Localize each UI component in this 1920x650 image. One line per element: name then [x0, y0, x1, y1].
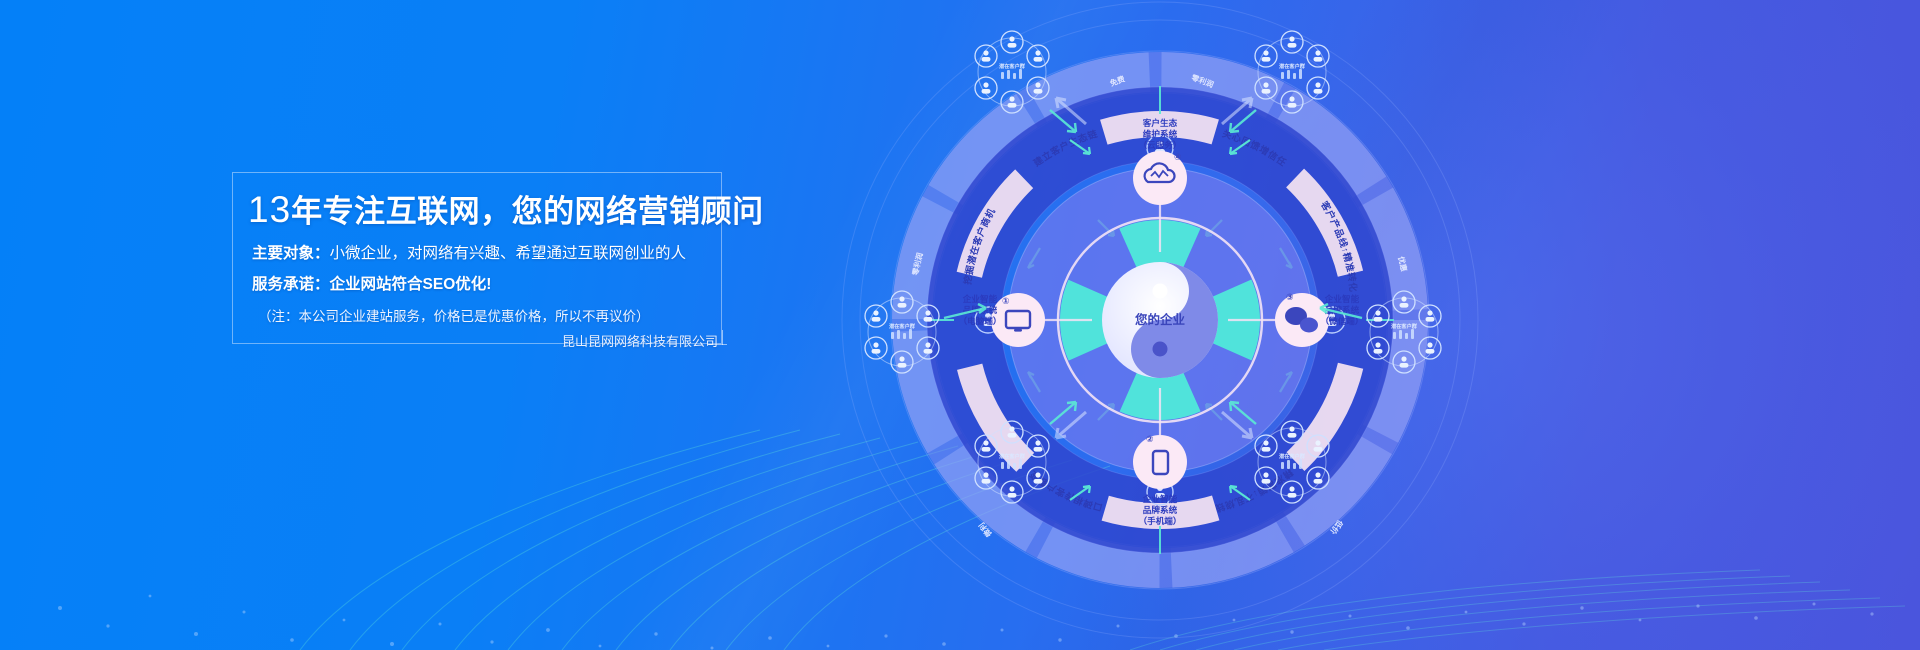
node-desktop-number: ①: [1002, 296, 1010, 306]
ecosystem-diagram: 免费 零利润 零利润 优惠 微利 低价 建立客户生态链 关心回馈增信任 挖掘潜在…: [830, 0, 1490, 650]
years-number: 13: [248, 189, 291, 230]
price-note: （注：本公司企业建站服务，价格已是优惠价格，所以不再议价）: [258, 305, 650, 325]
yin-yang-dot-dark: [1153, 342, 1168, 357]
node-desktop-caption: 企业智能品牌系统（电脑端）: [959, 293, 1002, 326]
page-title: 13年专注互联网，您的网络营销顾问: [248, 186, 768, 231]
promise-value: 企业网站符合SEO优化!: [330, 276, 492, 293]
node-cloud-caption: 客户生态维护系统（云服务）: [1139, 117, 1182, 150]
node-wechat-number: ③: [1286, 292, 1294, 302]
promise-label: 服务承诺：: [252, 276, 330, 293]
core-group: 您的企业: [1102, 262, 1218, 378]
core-label: 您的企业: [1135, 312, 1186, 327]
node-wechat-caption: 企业智能品牌系统（微信端）: [1321, 293, 1364, 326]
chat-icon-secondary: [1300, 318, 1318, 333]
company-name: 昆山昆网网络科技有限公司: [562, 331, 718, 350]
headline-rest: 年专注互联网，您的网络营销顾问: [291, 194, 764, 229]
monitor-stand-icon: [1014, 329, 1022, 332]
audience-value: 小微企业，对网络有兴趣、希望通过互联网创业的人: [330, 245, 687, 262]
node-mobile-caption: 企业智能品牌系统（手机端）: [1139, 493, 1182, 526]
node-mobile-number: ②: [1146, 434, 1154, 444]
ecosystem-diagram-svg: 免费 零利润 零利润 优惠 微利 低价 建立客户生态链 关心回馈增信任 挖掘潜在…: [830, 0, 1490, 650]
marketing-banner: 13年专注互联网，您的网络营销顾问 主要对象：小微企业，对网络有兴趣、希望通过互…: [0, 0, 1920, 650]
audience-label: 主要对象：: [252, 245, 330, 262]
promise-line: 服务承诺：企业网站符合SEO优化!: [252, 272, 491, 294]
audience-line: 主要对象：小微企业，对网络有兴趣、希望通过互联网创业的人: [252, 241, 686, 263]
node-cloud-number: ④: [1174, 152, 1182, 162]
decor-tick-horizontal: [709, 344, 727, 345]
decor-tick-vertical: [722, 330, 723, 345]
node-mobile-bubble: [1133, 435, 1187, 489]
yin-yang-dot-light: [1153, 284, 1168, 299]
